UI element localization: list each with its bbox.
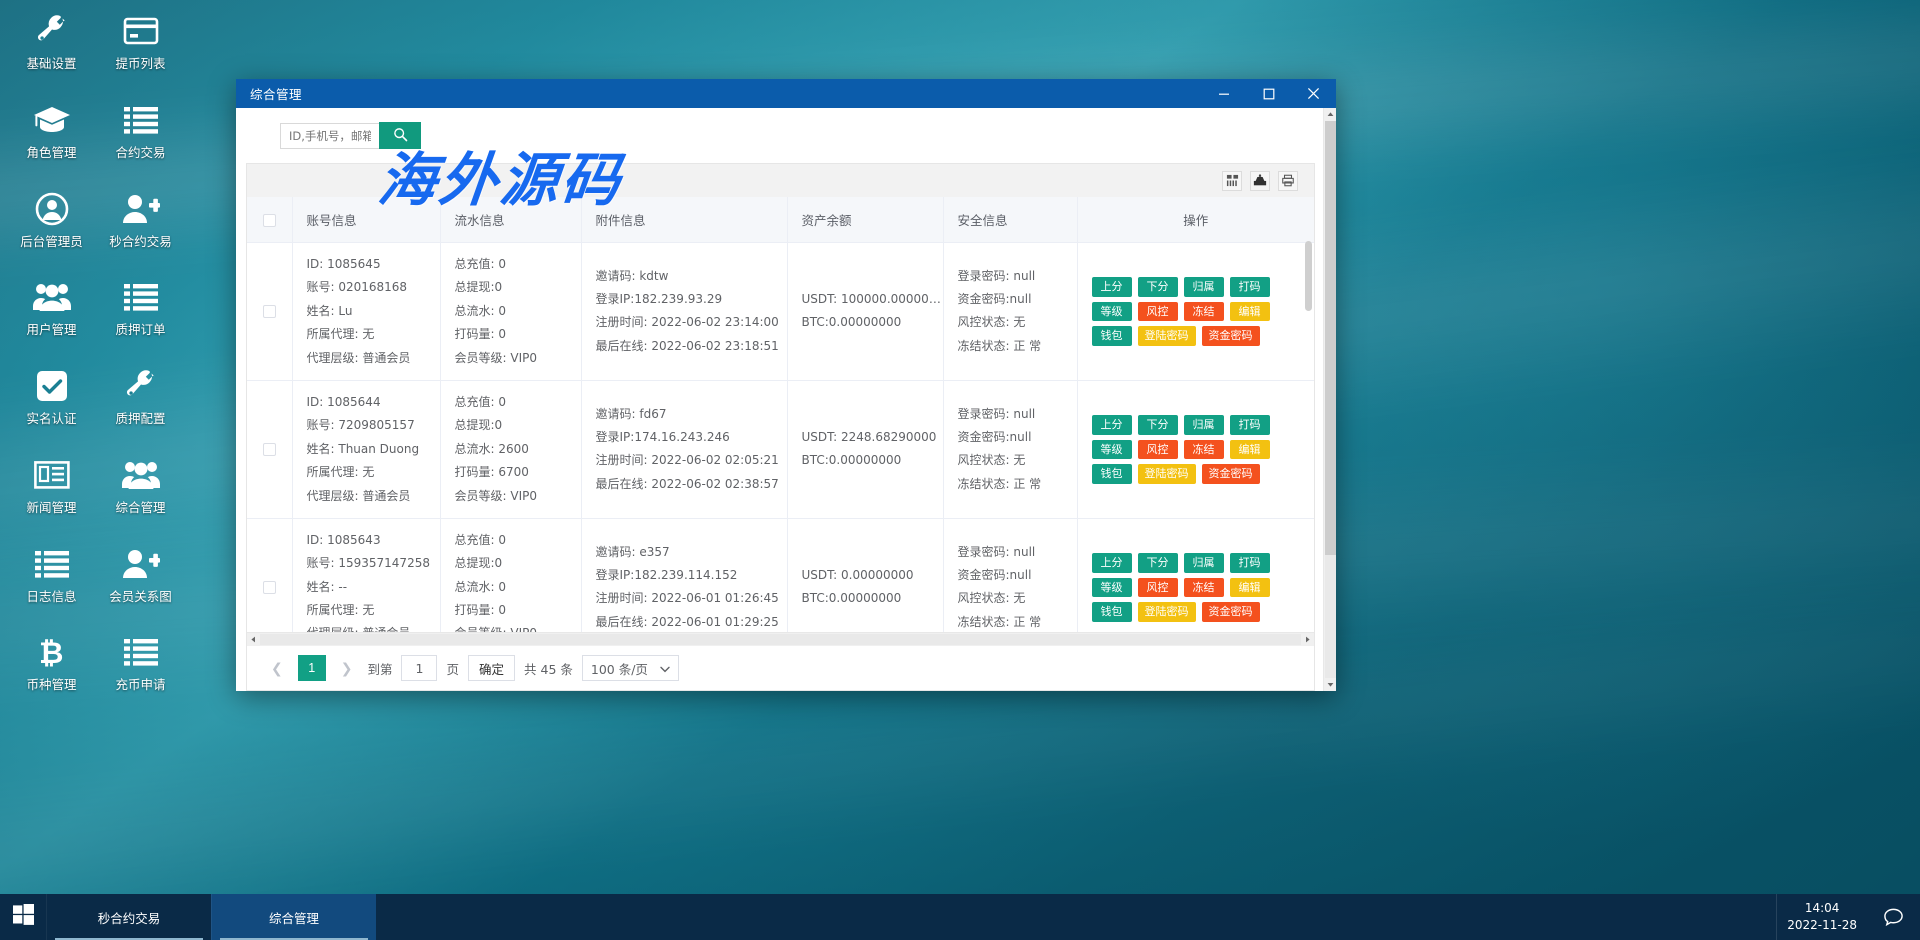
select-all-checkbox[interactable] [263,214,276,227]
pagination-page-1[interactable]: 1 [298,655,326,681]
newspaper-icon [29,454,75,496]
desktop-icon-label: 充币申请 [115,678,165,692]
flow-turnover: 打码量: 6700 [455,461,581,484]
desktop-icon-area: 基础设置 提币列表 角色管理 合约交易 后台管理员 [0,0,222,900]
desktop-icon-label: 基础设置 [26,57,76,71]
cell-security: 登录密码: null 资金密码:null 风控状态: 无 冻结状态: 正 常 [943,243,1077,381]
account-level: 代理层级: 普通会员 [307,622,440,632]
action-ownership[interactable]: 归属 [1184,415,1224,435]
attach-register-time: 注册时间: 2022-06-01 01:26:45 [596,587,787,610]
row-checkbox[interactable] [263,581,276,594]
asset-usdt: USDT: 100000.00000000 [802,288,943,311]
card-icon [118,10,164,52]
asset-btc: BTC:0.00000000 [802,311,943,334]
asset-btc: BTC:0.00000000 [802,587,943,610]
window-body: 账号信息 流水信息 附件信息 资产余额 安全信息 操作 [236,108,1336,691]
columns-icon[interactable] [1222,171,1242,191]
column-header-assets[interactable]: 资产余额 [787,197,943,243]
cell-attachment: 邀请码: fd67 登录IP:174.16.243.246 注册时间: 2022… [581,380,787,518]
security-fund-password: 资金密码:null [958,288,1077,311]
start-button[interactable] [0,894,46,940]
action-freeze[interactable]: 冻结 [1184,440,1224,460]
account-number: 账号: 7209805157 [307,414,440,437]
row-action-group: 上分 下分 归属 打码 等级 风控 冻结 编辑 [1084,415,1309,484]
vscroll-thumb[interactable] [1325,121,1336,555]
flow-vip: 会员等级: VIP0 [455,485,581,508]
desktop-icon-label: 角色管理 [26,146,76,160]
desktop-icon-label: 合约交易 [115,146,165,160]
wrench-icon [118,365,164,407]
action-edit[interactable]: 编辑 [1230,578,1270,598]
account-level: 代理层级: 普通会员 [307,347,440,370]
cell-operations: 上分 下分 归属 打码 等级 风控 冻结 编辑 [1077,380,1314,518]
action-turnover[interactable]: 打码 [1230,277,1270,297]
list-icon [118,631,164,673]
flow-withdraw: 总提现:0 [455,276,581,299]
clock-date: 2022-11-28 [1787,917,1857,934]
asset-usdt: USDT: 0.00000000 [802,564,943,587]
flow-withdraw: 总提现:0 [455,552,581,575]
flow-vip: 会员等级: VIP0 [455,622,581,632]
account-agent: 所属代理: 无 [307,323,440,346]
desktop-icon-label: 秒合约交易 [109,235,172,249]
cell-attachment: 邀请码: e357 登录IP:182.239.114.152 注册时间: 202… [581,518,787,632]
desktop-icon-withdraw-list[interactable]: 提币列表 [103,10,178,71]
table-container: 账号信息 流水信息 附件信息 资产余额 安全信息 操作 [247,197,1314,645]
scroll-left-icon[interactable] [247,633,260,646]
action-edit[interactable]: 编辑 [1230,302,1270,322]
app-window: 综合管理 [236,79,1336,691]
cell-flow: 总充值: 0 总提现:0 总流水: 0 打码量: 0 会员等级: VIP0 [440,243,581,381]
desktop-icon-contract-trade[interactable]: 合约交易 [103,99,178,160]
action-risk-control[interactable]: 风控 [1138,302,1178,322]
table-header-row: 账号信息 流水信息 附件信息 资产余额 安全信息 操作 [247,197,1314,243]
search-input[interactable] [280,123,380,149]
security-risk-status: 风控状态: 无 [958,449,1077,472]
user-circle-icon [29,188,75,230]
cell-security: 登录密码: null 资金密码:null 风控状态: 无 冻结状态: 正 常 [943,380,1077,518]
desktop-icon-label: 币种管理 [26,678,76,692]
action-wallet[interactable]: 钱包 [1092,326,1132,346]
wrench-icon [29,10,75,52]
table-vertical-scrollbar[interactable] [1305,241,1312,628]
scroll-down-icon[interactable] [1324,678,1337,691]
flow-total: 总流水: 0 [455,576,581,599]
list-icon [118,99,164,141]
total-count-label: 共 45 条 [524,659,573,678]
list-icon [118,276,164,318]
hscroll-track[interactable] [260,634,1301,645]
account-level: 代理层级: 普通会员 [307,485,440,508]
desktop-icon-user-management[interactable]: 用户管理 [14,276,89,337]
security-fund-password: 资金密码:null [958,426,1077,449]
cell-assets: USDT: 100000.00000000 BTC:0.00000000 [787,243,943,381]
attach-last-online: 最后在线: 2022-06-01 01:29:25 [596,611,787,632]
desktop-icon-log-info[interactable]: 日志信息 [14,543,89,604]
desktop-icon-deposit-request[interactable]: 充币申请 [103,631,178,692]
taskbar-item-label: 秒合约交易 [98,908,161,927]
action-fund-password[interactable]: 资金密码 [1202,464,1260,484]
select-all-header [247,197,292,243]
table-toolbar [247,164,1314,197]
graduation-cap-icon [29,99,75,141]
table-row[interactable]: ID: 1085645 账号: 020168168 姓名: Lu 所属代理: 无… [247,243,1314,381]
flow-turnover: 打码量: 0 [455,599,581,622]
action-sub-points[interactable]: 下分 [1138,277,1178,297]
desktop-icon-member-relation-chart[interactable]: 会员关系图 [103,543,178,604]
windows-logo-icon [13,904,34,930]
security-freeze-status: 冻结状态: 正 常 [958,611,1077,632]
account-name: 姓名: Lu [307,300,440,323]
window-titlebar[interactable]: 综合管理 [236,79,1336,108]
svg-text:₿: ₿ [39,636,63,669]
action-ownership[interactable]: 归属 [1184,553,1224,573]
account-id: ID: 1085645 [307,253,440,276]
attach-last-online: 最后在线: 2022-06-02 23:18:51 [596,335,787,358]
action-turnover[interactable]: 打码 [1230,415,1270,435]
page-size-value: 100 条/页 [591,659,648,678]
cell-account: ID: 1085645 账号: 020168168 姓名: Lu 所属代理: 无… [292,243,440,381]
goto-page-input[interactable] [401,655,437,681]
action-sub-points[interactable]: 下分 [1138,415,1178,435]
account-name: 姓名: -- [307,576,440,599]
attach-invite-code: 邀请码: e357 [596,541,787,564]
account-id: ID: 1085643 [307,529,440,552]
action-edit[interactable]: 编辑 [1230,440,1270,460]
desktop-icon-label: 日志信息 [26,590,76,604]
attach-invite-code: 邀请码: fd67 [596,403,787,426]
bitcoin-icon: ₿ [29,631,75,673]
security-login-password: 登录密码: null [958,541,1077,564]
desktop-icon-label: 综合管理 [115,501,165,515]
desktop-icon-label: 新闻管理 [26,501,76,515]
cell-operations: 上分 下分 归属 打码 等级 风控 冻结 编辑 [1077,518,1314,632]
desktop-icon-comprehensive-management[interactable]: 综合管理 [103,454,178,515]
attach-login-ip: 登录IP:174.16.243.246 [596,426,787,449]
desktop-icon-currency-management[interactable]: ₿ 币种管理 [14,631,89,692]
taskbar: 秒合约交易 综合管理 14:04 2022-11-28 [0,894,1920,940]
page-size-select[interactable]: 100 条/页 [582,655,679,681]
pagination-prev-icon[interactable]: ❮ [265,658,289,679]
action-login-password[interactable]: 登陆密码 [1138,464,1196,484]
vscroll-track[interactable] [1325,121,1336,678]
cell-account: ID: 1085644 账号: 7209805157 姓名: Thuan Duo… [292,380,440,518]
flow-total: 总流水: 0 [455,300,581,323]
column-header-attachment[interactable]: 附件信息 [581,197,787,243]
column-header-account[interactable]: 账号信息 [292,197,440,243]
cell-assets: USDT: 2248.68290000 BTC:0.00000000 [787,380,943,518]
desktop-icon-realname-verify[interactable]: 实名认证 [14,365,89,426]
flow-vip: 会员等级: VIP0 [455,347,581,370]
minimize-icon[interactable] [1201,79,1246,108]
desktop-icon-label: 质押订单 [115,323,165,337]
taskbar-clock[interactable]: 14:04 2022-11-28 [1777,900,1867,935]
list-icon [29,543,75,585]
security-risk-status: 风控状态: 无 [958,587,1077,610]
cell-flow: 总充值: 0 总提现:0 总流水: 2600 打码量: 6700 会员等级: V… [440,380,581,518]
export-icon[interactable] [1250,171,1270,191]
account-id: ID: 1085644 [307,391,440,414]
desktop-icon-base-settings[interactable]: 基础设置 [14,10,89,71]
desktop-icon-second-contract[interactable]: 秒合约交易 [103,188,178,249]
action-login-password[interactable]: 登陆密码 [1138,326,1196,346]
flow-turnover: 打码量: 0 [455,323,581,346]
cell-attachment: 邀请码: kdtw 登录IP:182.239.93.29 注册时间: 2022-… [581,243,787,381]
desktop-icon-label: 提币列表 [115,57,165,71]
action-add-points[interactable]: 上分 [1092,277,1132,297]
attach-invite-code: 邀请码: kdtw [596,265,787,288]
table-row[interactable]: ID: 1085644 账号: 7209805157 姓名: Thuan Duo… [247,380,1314,518]
action-level[interactable]: 等级 [1092,440,1132,460]
confirm-button[interactable]: 确定 [468,655,515,681]
cell-account: ID: 1085643 账号: 159357147258 姓名: -- 所属代理… [292,518,440,632]
action-level[interactable]: 等级 [1092,302,1132,322]
taskbar-spacer [376,894,1776,940]
account-name: 姓名: Thuan Duong [307,438,440,461]
desktop-icon-role-management[interactable]: 角色管理 [14,99,89,160]
action-ownership[interactable]: 归属 [1184,277,1224,297]
maximize-icon[interactable] [1246,79,1291,108]
security-login-password: 登录密码: null [958,403,1077,426]
column-header-security[interactable]: 安全信息 [943,197,1077,243]
data-panel: 账号信息 流水信息 附件信息 资产余额 安全信息 操作 [246,163,1315,691]
user-plus-icon [118,188,164,230]
search-icon [393,127,408,145]
scroll-up-icon[interactable] [1324,108,1337,121]
taskbar-item-second-contract[interactable]: 秒合约交易 [46,894,211,940]
row-select-cell [247,380,292,518]
user-plus-icon [118,543,164,585]
action-login-password[interactable]: 登陆密码 [1138,602,1196,622]
attach-register-time: 注册时间: 2022-06-02 02:05:21 [596,449,787,472]
attach-login-ip: 登录IP:182.239.93.29 [596,288,787,311]
account-agent: 所属代理: 无 [307,599,440,622]
action-fund-password[interactable]: 资金密码 [1202,602,1260,622]
account-number: 账号: 020168168 [307,276,440,299]
pagination-bar: ❮ 1 ❯ 到第 页 确定 共 45 条 100 条/页 [247,645,1314,690]
action-level[interactable]: 等级 [1092,578,1132,598]
column-header-operations: 操作 [1077,197,1314,243]
action-freeze[interactable]: 冻结 [1184,302,1224,322]
flow-deposit: 总充值: 0 [455,253,581,276]
goto-label: 到第 [367,659,392,678]
window-vertical-scrollbar[interactable] [1323,108,1336,691]
desktop-icon-pledge-order[interactable]: 质押订单 [103,276,178,337]
attach-register-time: 注册时间: 2022-06-02 23:14:00 [596,311,787,334]
window-title: 综合管理 [250,84,302,103]
users-icon [29,276,75,318]
taskbar-item-comprehensive-management[interactable]: 综合管理 [211,894,376,940]
cell-operations: 上分 下分 归属 打码 等级 风控 冻结 编辑 [1077,243,1314,381]
clock-time: 14:04 [1787,900,1857,917]
print-icon[interactable] [1278,171,1298,191]
window-content: 账号信息 流水信息 附件信息 资产余额 安全信息 操作 [236,108,1323,691]
account-agent: 所属代理: 无 [307,461,440,484]
flow-deposit: 总充值: 0 [455,529,581,552]
action-risk-control[interactable]: 风控 [1138,578,1178,598]
attach-login-ip: 登录IP:182.239.114.152 [596,564,787,587]
accounts-table: 账号信息 流水信息 附件信息 资产余额 安全信息 操作 [247,197,1314,632]
action-risk-control[interactable]: 风控 [1138,440,1178,460]
row-select-cell [247,518,292,632]
desktop-icon-label: 用户管理 [26,323,76,337]
desktop-icon-label: 后台管理员 [20,235,83,249]
account-number: 账号: 159357147258 [307,552,440,575]
row-select-cell [247,243,292,381]
security-login-password: 登录密码: null [958,265,1077,288]
notification-icon[interactable] [1883,907,1904,927]
row-checkbox[interactable] [263,305,276,318]
page-unit-label: 页 [446,659,459,678]
attach-last-online: 最后在线: 2022-06-02 02:38:57 [596,473,787,496]
asset-btc: BTC:0.00000000 [802,449,943,472]
security-freeze-status: 冻结状态: 正 常 [958,335,1077,358]
search-button[interactable] [379,122,421,149]
action-wallet[interactable]: 钱包 [1092,602,1132,622]
row-checkbox[interactable] [263,443,276,456]
search-bar [236,108,1323,157]
table-scrollbar-thumb[interactable] [1305,241,1312,311]
taskbar-item-label: 综合管理 [269,908,319,927]
flow-withdraw: 总提现:0 [455,414,581,437]
security-risk-status: 风控状态: 无 [958,311,1077,334]
asset-usdt: USDT: 2248.68290000 [802,426,943,449]
check-square-icon [29,365,75,407]
desktop-icon-label: 质押配置 [115,412,165,426]
action-turnover[interactable]: 打码 [1230,553,1270,573]
flow-deposit: 总充值: 0 [455,391,581,414]
security-fund-password: 资金密码:null [958,564,1077,587]
table-horizontal-scrollbar[interactable] [247,632,1314,645]
desktop-icon-admin-user[interactable]: 后台管理员 [14,188,89,249]
cell-security: 登录密码: null 资金密码:null 风控状态: 无 冻结状态: 正 常 [943,518,1077,632]
column-header-flow[interactable]: 流水信息 [440,197,581,243]
desktop-icon-label: 会员关系图 [109,590,172,604]
table-scroll-area: 账号信息 流水信息 附件信息 资产余额 安全信息 操作 [247,197,1314,632]
desktop-icon-grid: 基础设置 提币列表 角色管理 合约交易 后台管理员 [0,10,222,720]
action-add-points[interactable]: 上分 [1092,553,1132,573]
pagination-next-icon[interactable]: ❯ [335,658,359,679]
action-wallet[interactable]: 钱包 [1092,464,1132,484]
chevron-down-icon [660,661,670,676]
desktop-icon-label: 实名认证 [26,412,76,426]
action-freeze[interactable]: 冻结 [1184,578,1224,598]
row-action-group: 上分 下分 归属 打码 等级 风控 冻结 编辑 [1084,553,1309,622]
close-icon[interactable] [1291,79,1336,108]
users-icon [118,454,164,496]
scroll-right-icon[interactable] [1301,633,1314,646]
desktop-icon-news-management[interactable]: 新闻管理 [14,454,89,515]
table-row[interactable]: ID: 1085643 账号: 159357147258 姓名: -- 所属代理… [247,518,1314,632]
security-freeze-status: 冻结状态: 正 常 [958,473,1077,496]
action-add-points[interactable]: 上分 [1092,415,1132,435]
flow-total: 总流水: 2600 [455,438,581,461]
system-tray: 14:04 2022-11-28 [1776,894,1920,940]
cell-flow: 总充值: 0 总提现:0 总流水: 0 打码量: 0 会员等级: VIP0 [440,518,581,632]
cell-assets: USDT: 0.00000000 BTC:0.00000000 [787,518,943,632]
desktop-icon-pledge-config[interactable]: 质押配置 [103,365,178,426]
action-sub-points[interactable]: 下分 [1138,553,1178,573]
row-action-group: 上分 下分 归属 打码 等级 风控 冻结 编辑 [1084,277,1309,346]
action-fund-password[interactable]: 资金密码 [1202,326,1260,346]
